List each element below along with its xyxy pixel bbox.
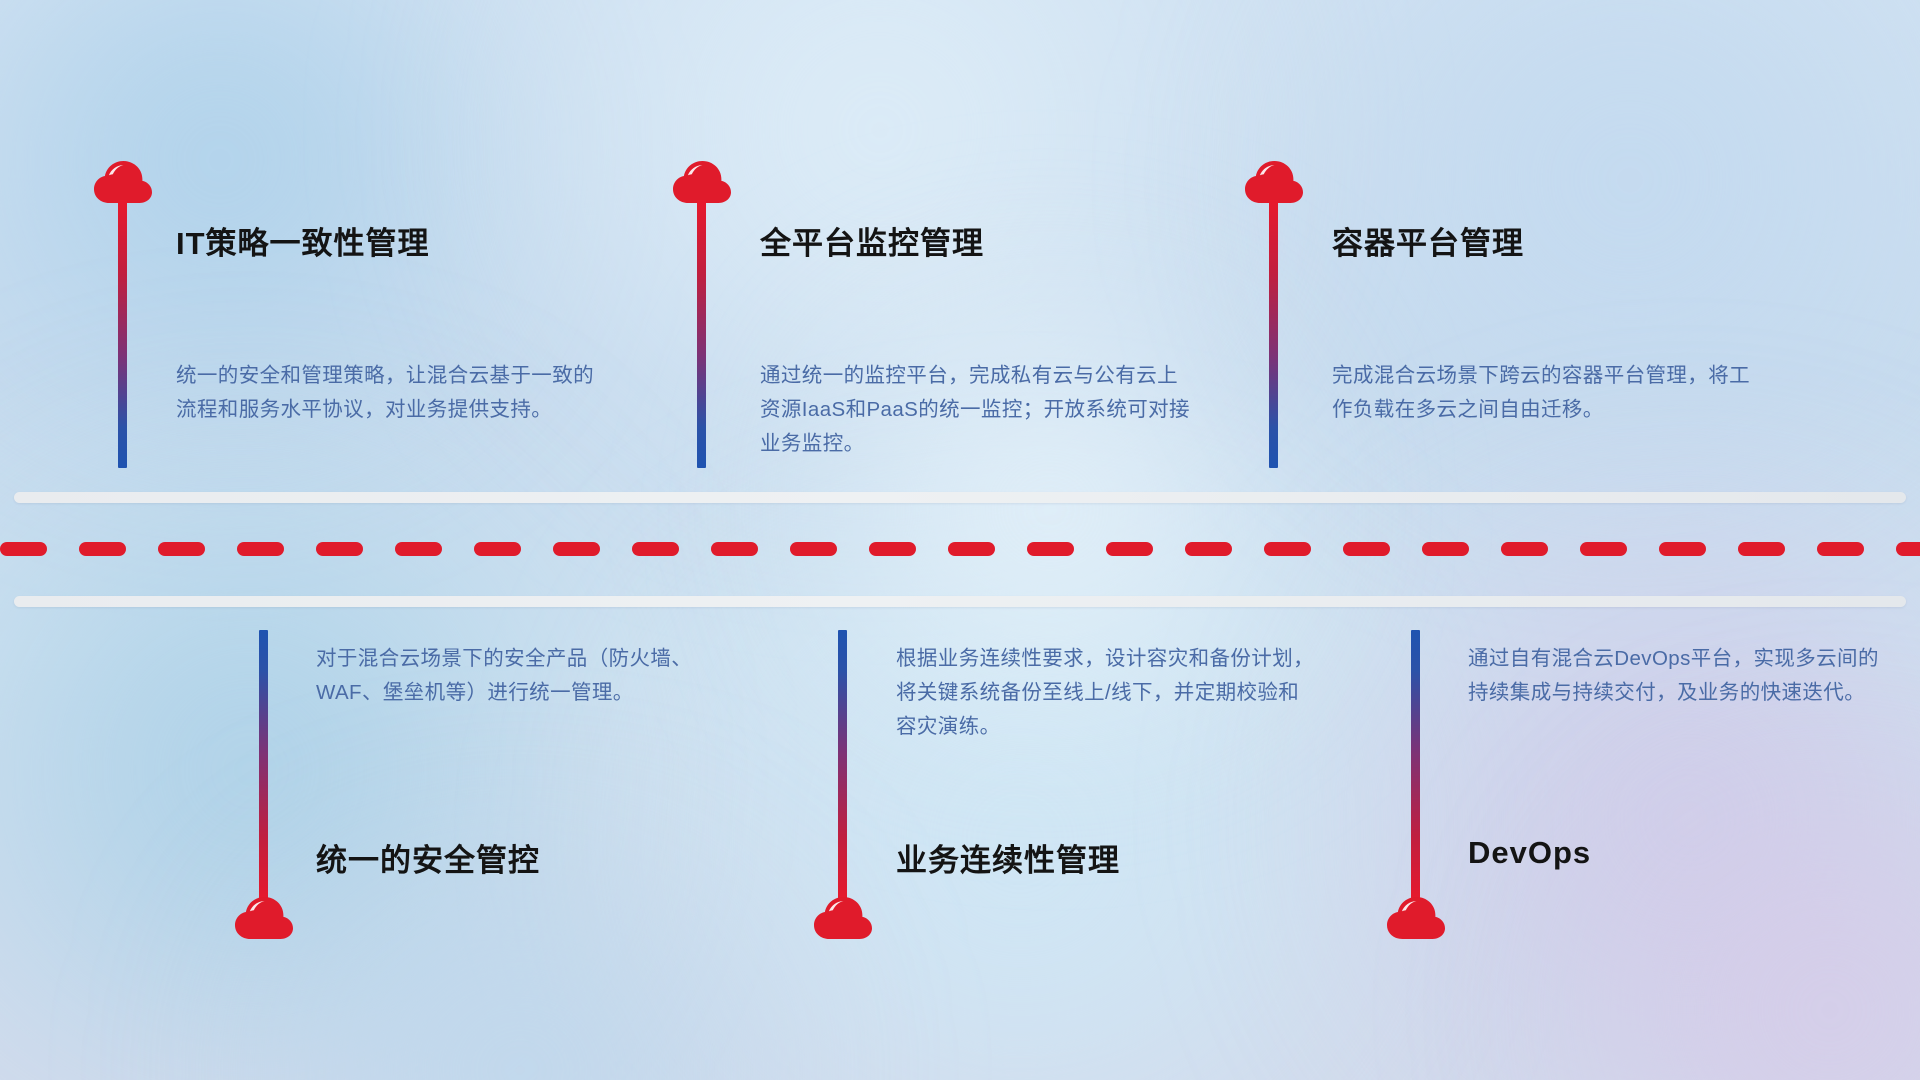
connector-stem	[1411, 630, 1420, 902]
connector-stem	[1269, 200, 1278, 468]
feature-description: 完成混合云场景下跨云的容器平台管理，将工作负载在多云之间自由迁移。	[1332, 359, 1762, 427]
divider-dash	[79, 542, 126, 556]
divider-dash	[1659, 542, 1706, 556]
feature-heading: 业务连续性管理	[896, 835, 1120, 880]
cloud-icon	[92, 158, 154, 204]
divider-dashed-line	[0, 542, 1920, 556]
feature-heading: DevOps	[1468, 835, 1591, 871]
divider-dash	[790, 542, 837, 556]
divider-dash	[1817, 542, 1864, 556]
feature-heading: IT策略一致性管理	[176, 218, 430, 263]
connector-stem	[118, 200, 127, 468]
feature-heading: 容器平台管理	[1332, 218, 1524, 263]
divider-dash	[0, 542, 47, 556]
connector-stem	[259, 630, 268, 902]
feature-heading: 统一的安全管控	[316, 835, 540, 880]
divider-dash	[1027, 542, 1074, 556]
feature-description: 统一的安全和管理策略，让混合云基于一致的流程和服务水平协议，对业务提供支持。	[176, 359, 596, 427]
divider-rail-bottom	[14, 596, 1906, 607]
divider-dash	[316, 542, 363, 556]
cloud-icon	[1385, 894, 1447, 940]
divider-rail-top	[14, 492, 1906, 503]
cloud-icon	[1243, 158, 1305, 204]
feature-description: 根据业务连续性要求，设计容灾和备份计划，将关键系统备份至线上/线下，并定期校验和…	[896, 642, 1316, 744]
divider-dash	[711, 542, 758, 556]
cloud-icon	[812, 894, 874, 940]
divider-dash	[474, 542, 521, 556]
connector-stem	[697, 200, 706, 468]
divider-dash	[237, 542, 284, 556]
divider-dash	[1106, 542, 1153, 556]
connector-stem	[838, 630, 847, 902]
divider-dash	[1422, 542, 1469, 556]
cloud-icon	[671, 158, 733, 204]
divider-dash	[1264, 542, 1311, 556]
divider-dash	[553, 542, 600, 556]
divider-dash	[869, 542, 916, 556]
divider-dash	[1580, 542, 1627, 556]
divider-dash	[1738, 542, 1785, 556]
divider-dash	[1185, 542, 1232, 556]
feature-description: 对于混合云场景下的安全产品（防火墙、WAF、堡垒机等）进行统一管理。	[316, 642, 736, 710]
divider-dash	[1501, 542, 1548, 556]
divider-dash	[948, 542, 995, 556]
feature-description: 通过自有混合云DevOps平台，实现多云间的持续集成与持续交付，及业务的快速迭代…	[1468, 642, 1888, 710]
divider-dash	[395, 542, 442, 556]
feature-description: 通过统一的监控平台，完成私有云与公有云上资源IaaS和PaaS的统一监控；开放系…	[760, 359, 1190, 461]
divider-dash	[1343, 542, 1390, 556]
divider-dash	[632, 542, 679, 556]
divider-dash	[1896, 542, 1920, 556]
divider-dash	[158, 542, 205, 556]
feature-heading: 全平台监控管理	[760, 218, 984, 263]
cloud-icon	[233, 894, 295, 940]
